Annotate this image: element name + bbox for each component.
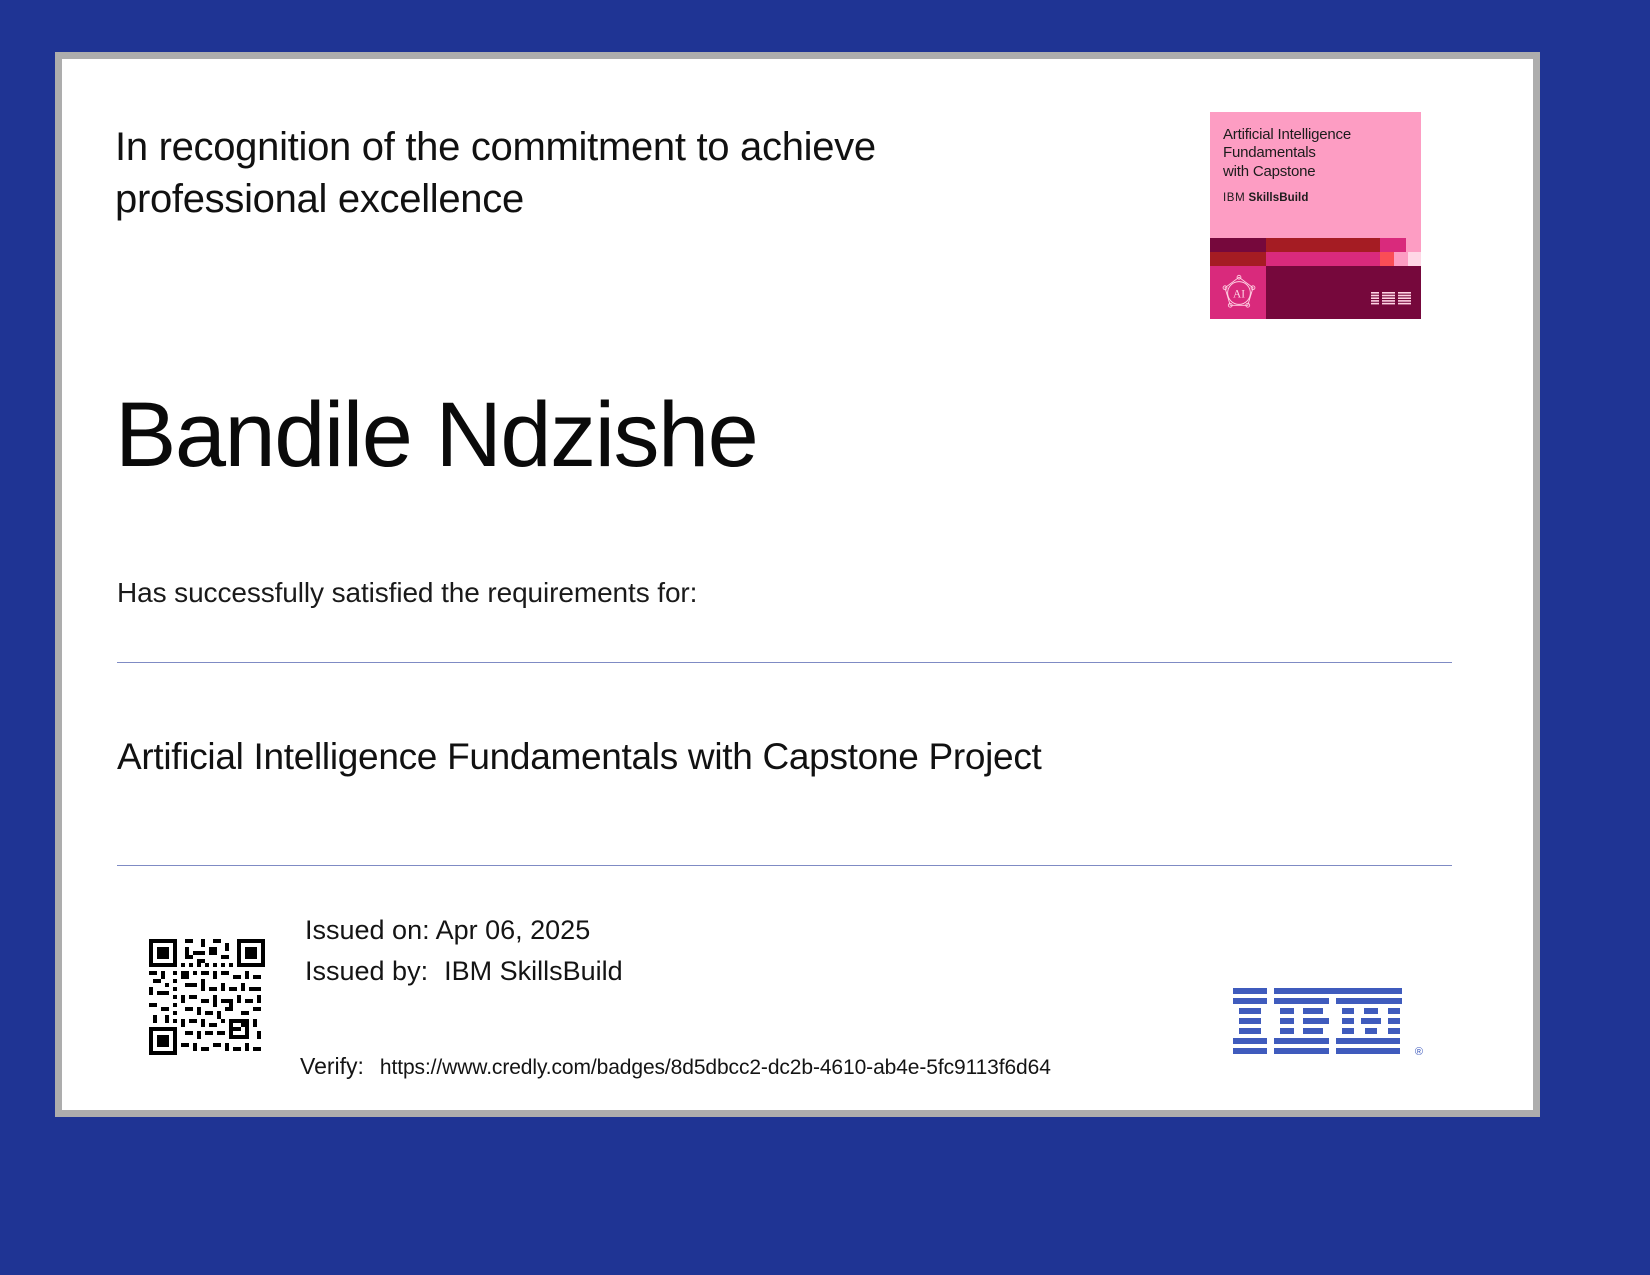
badge-stripes (1210, 238, 1421, 266)
requirements-subline: Has successfully satisfied the requireme… (117, 577, 697, 609)
badge-title-line-3: with Capstone (1223, 163, 1409, 181)
issued-by-label: Issued by: (305, 956, 428, 987)
page-title: In recognition of the commitment to achi… (115, 121, 1075, 225)
issued-by-value: IBM SkillsBuild (444, 956, 623, 987)
issued-by: Issued by: IBM SkillsBuild (305, 956, 623, 987)
ai-network-icon: AI (1218, 272, 1260, 314)
badge-stripe-row-2 (1210, 252, 1421, 266)
verify-line: Verify: https://www.credly.com/badges/8d… (300, 1053, 1051, 1080)
badge-stripe-row-1 (1210, 238, 1421, 252)
verify-url[interactable]: https://www.credly.com/badges/8d5dbcc2-d… (380, 1056, 1051, 1080)
svg-text:AI: AI (1233, 288, 1245, 300)
badge-ibm-block (1266, 266, 1421, 319)
badge-ibm-logo-icon (1371, 292, 1411, 307)
ibm-logo-icon (1233, 988, 1411, 1060)
badge-bottom: AI (1210, 266, 1421, 319)
certificate-body: In recognition of the commitment to achi… (62, 59, 1533, 1110)
badge-title-area: Artificial Intelligence Fundamentals wit… (1210, 112, 1421, 238)
badge-title-line-1: Artificial Intelligence (1223, 126, 1409, 144)
registered-trademark: ® (1415, 1046, 1423, 1058)
badge-brand: IBM SkillsBuild (1223, 192, 1409, 204)
badge-title: Artificial Intelligence Fundamentals wit… (1223, 126, 1409, 181)
badge-brand-skillsbuild: SkillsBuild (1249, 192, 1309, 204)
badge-ai-block: AI (1210, 266, 1266, 319)
badge-brand-ibm: IBM (1223, 192, 1245, 204)
skillsbuild-badge: Artificial Intelligence Fundamentals wit… (1210, 112, 1421, 319)
qr-code-icon (149, 939, 265, 1055)
course-title: Artificial Intelligence Fundamentals wit… (117, 736, 1042, 778)
badge-title-line-2: Fundamentals (1223, 144, 1409, 162)
ibm-logo: ® (1233, 988, 1411, 1060)
qr-code[interactable] (149, 939, 265, 1055)
divider-top (117, 662, 1452, 663)
recipient-name: Bandile Ndzishe (115, 389, 757, 481)
divider-bottom (117, 865, 1452, 866)
certificate-frame: In recognition of the commitment to achi… (55, 52, 1540, 1117)
verify-label: Verify: (300, 1053, 364, 1080)
issued-on: Issued on: Apr 06, 2025 (305, 915, 590, 946)
